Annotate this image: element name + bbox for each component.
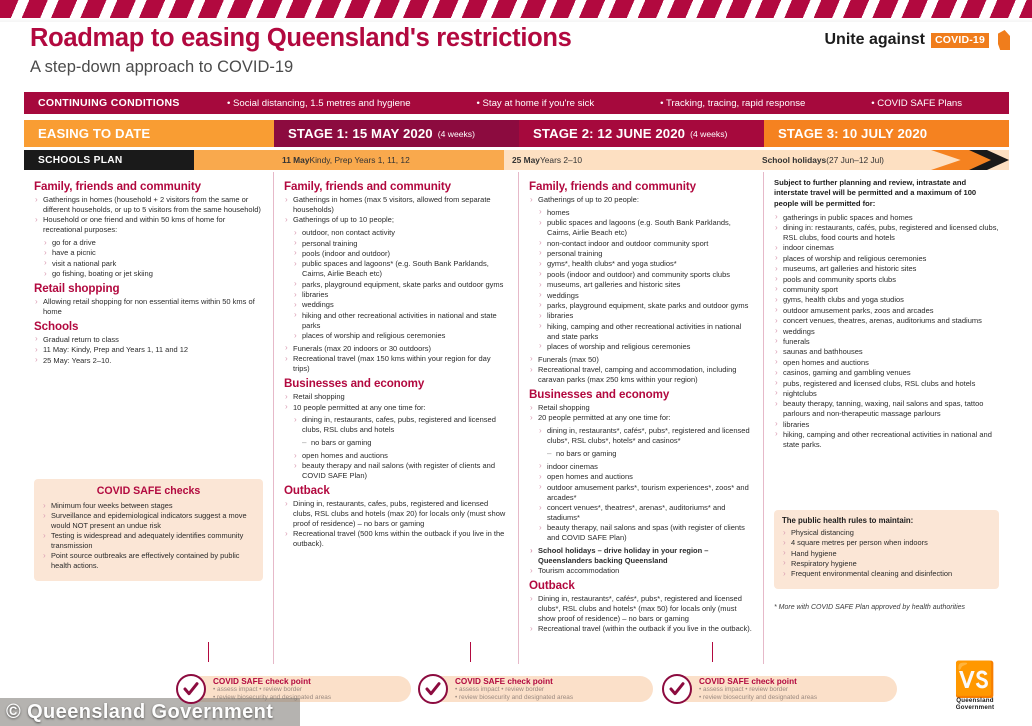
list-item: Retail shopping — [284, 392, 508, 402]
bullet-list: School holidays – drive holiday in your … — [529, 546, 753, 576]
list-item: open homes and auctions — [538, 472, 753, 482]
covid-safe-check-point: COVID SAFE check point • assess impact •… — [662, 674, 897, 704]
bullet-list: Gatherings of up to 20 people: — [529, 195, 753, 205]
check-point-line-2: • review biosecurity and designated area… — [455, 694, 641, 702]
timeline-tick — [712, 642, 713, 662]
bullet-list: Physical distancing 4 square metres per … — [782, 528, 991, 579]
list-item: Hand hygiene — [782, 549, 991, 559]
list-item: hiking and other recreational activities… — [293, 311, 508, 331]
list-item: open homes and auctions — [293, 451, 508, 461]
check-point-line-1: • assess impact • review border — [213, 686, 399, 694]
column-stage-1: Family, friends and community Gatherings… — [274, 172, 519, 664]
list-item: Gatherings of up to 20 people: — [529, 195, 753, 205]
stage-easing-to-date: EASING TO DATE — [24, 120, 274, 147]
list-item: public spaces and lagoons (e.g. South Ba… — [538, 218, 753, 238]
list-item: dining in, restaurants, cafes, pubs, reg… — [293, 415, 508, 435]
list-item: no bars or gaming — [547, 449, 753, 459]
bullet-sublist: go for a drive have a picnic visit a nat… — [43, 238, 263, 279]
list-item: homes — [538, 208, 753, 218]
list-item: pools (indoor and outdoor) — [293, 249, 508, 259]
tick-glyph — [183, 681, 199, 697]
box-title: COVID SAFE checks — [42, 485, 255, 497]
list-item: outdoor amusement parks, zoos and arcade… — [774, 306, 999, 316]
section-heading: Retail shopping — [34, 282, 263, 295]
list-item: gyms, health clubs and yoga studios — [774, 295, 999, 305]
bullet-list: Gatherings in homes (max 5 visitors, all… — [284, 195, 508, 225]
unite-against-label: Unite against — [825, 31, 925, 49]
stage-1: STAGE 1: 15 MAY 2020 (4 weeks) — [274, 120, 519, 147]
schools-segment-detail: Kindy, Prep Years 1, 11, 12 — [309, 155, 409, 165]
check-tick-icon — [662, 674, 692, 704]
schools-segment-date: 11 May — [282, 155, 309, 165]
bullet-list: Dining in, restaurants, cafes, pubs, reg… — [284, 499, 508, 549]
list-item: museums, art galleries and historic site… — [774, 264, 999, 274]
coat-of-arms-icon: 🆚 — [954, 663, 996, 697]
list-item: Tourism accommodation — [529, 566, 753, 576]
stage-2: STAGE 2: 12 JUNE 2020 (4 weeks) — [519, 120, 764, 147]
section-heading: Outback — [529, 579, 753, 592]
list-item: Funerals (max 20 indoors or 30 outdoors) — [284, 344, 508, 354]
list-item: public spaces and lagoons* (e.g. South B… — [293, 259, 508, 279]
public-health-rules-box: The public health rules to maintain: Phy… — [774, 510, 999, 589]
bullet-sublist: homes public spaces and lagoons (e.g. So… — [538, 208, 753, 352]
list-item: gyms*, health clubs* and yoga studios* — [538, 259, 753, 269]
stage-name: EASING TO DATE — [24, 126, 150, 141]
bullet-sublist-note: no bars or gaming — [547, 449, 753, 459]
bullet-list: Retail shopping 20 people permitted at a… — [529, 403, 753, 423]
stage-name: STAGE 2: 12 JUNE 2020 — [519, 126, 685, 141]
bullet-list: Funerals (max 20 indoors or 30 outdoors)… — [284, 344, 508, 374]
queensland-government-logo: 🆚 Queensland Government — [944, 640, 1006, 712]
check-tick-icon — [176, 674, 206, 704]
list-item: pools (indoor and outdoor) and community… — [538, 270, 753, 280]
page-title: Roadmap to easing Queensland's restricti… — [30, 24, 572, 53]
check-point-title: COVID SAFE check point — [455, 677, 641, 686]
covid-19-badge: COVID-19 — [931, 33, 989, 48]
list-item: saunas and bathhouses — [774, 347, 999, 357]
section-heading: Family, friends and community — [284, 180, 508, 193]
stage-3: STAGE 3: 10 JULY 2020 — [764, 120, 1009, 147]
list-item: Surveillance and epidemiological indicat… — [42, 511, 255, 531]
list-item: places of worship and religious ceremoni… — [293, 331, 508, 341]
list-item: 20 people permitted at any one time for: — [529, 413, 753, 423]
watermark-text: © Queensland Government — [6, 701, 273, 724]
list-item: dining in: restaurants, cafés, pubs, reg… — [774, 223, 999, 243]
list-item: Frequent environmental cleaning and disi… — [782, 569, 991, 579]
list-item: School holidays – drive holiday in your … — [529, 546, 753, 566]
schools-segment-detail: (27 Jun–12 Jul) — [826, 155, 884, 165]
continuing-condition-item: COVID SAFE Plans — [871, 98, 962, 109]
list-item: 4 square metres per person when indoors — [782, 538, 991, 548]
list-item: beauty therapy and nail salons (with reg… — [293, 461, 508, 481]
list-item: Allowing retail shopping for non essenti… — [34, 297, 263, 317]
schools-plan-bar: SCHOOLS PLAN 11 May Kindy, Prep Years 1,… — [24, 150, 1009, 170]
section-heading: Businesses and economy — [284, 377, 508, 390]
column-easing-to-date: Family, friends and community Gatherings… — [24, 172, 274, 664]
list-item: Point source outbreaks are effectively c… — [42, 551, 255, 571]
list-item: go for a drive — [43, 238, 263, 248]
list-item: 11 May: Kindy, Prep and Years 1, 11 and … — [34, 345, 263, 355]
check-point-body: COVID SAFE check point • assess impact •… — [679, 676, 897, 702]
continuing-conditions-bar: CONTINUING CONDITIONS Social distancing,… — [24, 92, 1009, 114]
check-point-body: COVID SAFE check point • assess impact •… — [435, 676, 653, 702]
logo-line-2: Government — [956, 704, 994, 712]
stage-duration: (4 weeks) — [685, 129, 727, 139]
bullet-list: gatherings in public spaces and homes di… — [774, 213, 999, 450]
section-heading: Family, friends and community — [529, 180, 753, 193]
bullet-list: Dining in, restaurants*, cafés*, pubs*, … — [529, 594, 753, 634]
section-heading: Businesses and economy — [529, 388, 753, 401]
stage-name: STAGE 3: 10 JULY 2020 — [764, 126, 927, 141]
list-item: indoor cinemas — [774, 243, 999, 253]
page-subtitle: A step-down approach to COVID-19 — [30, 58, 293, 77]
bullet-sublist: dining in, restaurants*, cafés*, pubs*, … — [538, 426, 753, 446]
list-item: personal training — [538, 249, 753, 259]
list-item: non-contact indoor and outdoor community… — [538, 239, 753, 249]
list-item: nightclubs — [774, 389, 999, 399]
list-item: libraries — [538, 311, 753, 321]
list-item: parks, playground equipment, skate parks… — [293, 280, 508, 290]
check-point-line-1: • assess impact • review border — [699, 686, 885, 694]
list-item: personal training — [293, 239, 508, 249]
list-item: go fishing, boating or jet skiing — [43, 269, 263, 279]
stage-duration: (4 weeks) — [433, 129, 475, 139]
list-item: Dining in, restaurants*, cafés*, pubs*, … — [529, 594, 753, 624]
list-item: casinos, gaming and gambling venues — [774, 368, 999, 378]
bullet-list: Funerals (max 50) Recreational travel, c… — [529, 355, 753, 385]
continuing-conditions-label: CONTINUING CONDITIONS — [24, 97, 194, 109]
list-item: museums, art galleries and historic site… — [538, 280, 753, 290]
list-item: indoor cinemas — [538, 462, 753, 472]
bullet-list: Gradual return to class 11 May: Kindy, P… — [34, 335, 263, 366]
list-item: Funerals (max 50) — [529, 355, 753, 365]
bullet-sublist: open homes and auctions beauty therapy a… — [293, 451, 508, 481]
hazard-tape-top — [0, 0, 1032, 18]
list-item: outdoor, non contact activity — [293, 228, 508, 238]
check-tick-icon — [418, 674, 448, 704]
schools-segment-detail: Years 2–10 — [540, 155, 582, 165]
list-item: Respiratory hygiene — [782, 559, 991, 569]
schools-segment-date: School holidays — [762, 155, 826, 165]
list-item: Gradual return to class — [34, 335, 263, 345]
tick-glyph — [669, 681, 685, 697]
list-item: libraries — [774, 420, 999, 430]
continuing-condition-item: Tracking, tracing, rapid response — [660, 98, 805, 109]
list-item: beauty therapy, tanning, waxing, nail sa… — [774, 399, 999, 419]
list-item: places of worship and religious ceremoni… — [774, 254, 999, 264]
schools-segment-11may: 11 May Kindy, Prep Years 1, 11, 12 — [274, 150, 504, 170]
bullet-sublist: dining in, restaurants, cafes, pubs, reg… — [293, 415, 508, 435]
continuing-conditions-items: Social distancing, 1.5 metres and hygien… — [194, 98, 1009, 109]
box-title: The public health rules to maintain: — [782, 516, 991, 525]
check-point-line-1: • assess impact • review border — [455, 686, 641, 694]
list-item: gatherings in public spaces and homes — [774, 213, 999, 223]
schools-segment-holidays: School holidays (27 Jun–12 Jul) — [754, 150, 1009, 170]
list-item: parks, playground equipment, skate parks… — [538, 301, 753, 311]
list-item: Gatherings in homes (household + 2 visit… — [34, 195, 263, 215]
column-stage-3: Subject to further planning and review, … — [764, 172, 1009, 664]
bullet-sublist: outdoor, non contact activity personal t… — [293, 228, 508, 341]
list-item: Physical distancing — [782, 528, 991, 538]
list-item: weddings — [293, 300, 508, 310]
list-item: 25 May: Years 2–10. — [34, 356, 263, 366]
schools-segment-25may: 25 May Years 2–10 — [504, 150, 754, 170]
list-item: outdoor amusement parks*, tourism experi… — [538, 483, 753, 503]
tick-glyph — [425, 681, 441, 697]
bullet-sublist-note: no bars or gaming — [302, 438, 508, 448]
list-item: Minimum four weeks between stages — [42, 501, 255, 511]
list-item: hiking, camping and other recreational a… — [538, 322, 753, 342]
list-item: Recreational travel, camping and accommo… — [529, 365, 753, 385]
list-item: pubs, registered and licensed clubs, RSL… — [774, 379, 999, 389]
list-item: dining in, restaurants*, cafés*, pubs*, … — [538, 426, 753, 446]
unite-against-lockup: Unite against COVID-19 — [825, 30, 1011, 50]
list-item: Recreational travel (500 kms within the … — [284, 529, 508, 549]
timeline-tick — [208, 642, 209, 662]
list-item: Household or one friend and within 50 km… — [34, 215, 263, 235]
check-point-line-2: • review biosecurity and designated area… — [699, 694, 885, 702]
list-item: Recreational travel (max 150 kms within … — [284, 354, 508, 374]
list-item: open homes and auctions — [774, 358, 999, 368]
bullet-list: Allowing retail shopping for non essenti… — [34, 297, 263, 317]
list-item: hiking, camping and other recreational a… — [774, 430, 999, 450]
schools-segment-spacer — [194, 150, 274, 170]
covid-safe-check-point: COVID SAFE check point • assess impact •… — [418, 674, 653, 704]
schools-segment-date: 25 May — [512, 155, 540, 165]
list-item: weddings — [538, 291, 753, 301]
list-item: community sport — [774, 285, 999, 295]
list-item: Dining in, restaurants, cafes, pubs, reg… — [284, 499, 508, 529]
check-point-title: COVID SAFE check point — [699, 677, 885, 686]
schools-plan-label: SCHOOLS PLAN — [24, 150, 194, 170]
section-heading: Schools — [34, 320, 263, 333]
list-item: Retail shopping — [529, 403, 753, 413]
covid-safe-checks-box: COVID SAFE checks Minimum four weeks bet… — [34, 479, 263, 581]
list-item: 10 people permitted at any one time for: — [284, 403, 508, 413]
continuing-condition-item: Stay at home if you're sick — [476, 98, 594, 109]
continuing-condition-item: Social distancing, 1.5 metres and hygien… — [227, 98, 411, 109]
list-item: Gatherings in homes (max 5 visitors, all… — [284, 195, 508, 215]
list-item: Gatherings of up to 10 people; — [284, 215, 508, 225]
logo-line-1: Queensland — [956, 697, 993, 705]
list-item: no bars or gaming — [302, 438, 508, 448]
timeline-tick — [470, 642, 471, 662]
column-stage-2: Family, friends and community Gatherings… — [519, 172, 764, 664]
list-item: weddings — [774, 327, 999, 337]
list-item: funerals — [774, 337, 999, 347]
list-item: libraries — [293, 290, 508, 300]
stage-3-intro: Subject to further planning and review, … — [774, 178, 999, 209]
check-point-title: COVID SAFE check point — [213, 677, 399, 686]
stage-name: STAGE 1: 15 MAY 2020 — [274, 126, 433, 141]
list-item: Recreational travel (within the outback … — [529, 624, 753, 634]
bullet-sublist: indoor cinemas open homes and auctions o… — [538, 462, 753, 543]
list-item: visit a national park — [43, 259, 263, 269]
bullet-list: Retail shopping 10 people permitted at a… — [284, 392, 508, 412]
list-item: concert venues*, theatres*, arenas*, aud… — [538, 503, 753, 523]
section-heading: Outback — [284, 484, 508, 497]
section-heading: Family, friends and community — [34, 180, 263, 193]
list-item: places of worship and religious ceremoni… — [538, 342, 753, 352]
queensland-shape-icon — [998, 30, 1010, 50]
list-item: concert venues, theatres, arenas, audito… — [774, 316, 999, 326]
list-item: pools and community sports clubs — [774, 275, 999, 285]
list-item: Testing is widespread and adequately ide… — [42, 531, 255, 551]
stage-header-bar: EASING TO DATE STAGE 1: 15 MAY 2020 (4 w… — [24, 120, 1009, 147]
list-item: beauty therapy, nail salons and spas (wi… — [538, 523, 753, 543]
asterisk-footnote: * More with COVID SAFE Plan approved by … — [774, 604, 999, 611]
bullet-list: Gatherings in homes (household + 2 visit… — [34, 195, 263, 235]
stage-columns: Family, friends and community Gatherings… — [24, 172, 1009, 664]
list-item: have a picnic — [43, 248, 263, 258]
bullet-list: Minimum four weeks between stages Survei… — [42, 501, 255, 571]
page-header: Roadmap to easing Queensland's restricti… — [0, 22, 1032, 84]
